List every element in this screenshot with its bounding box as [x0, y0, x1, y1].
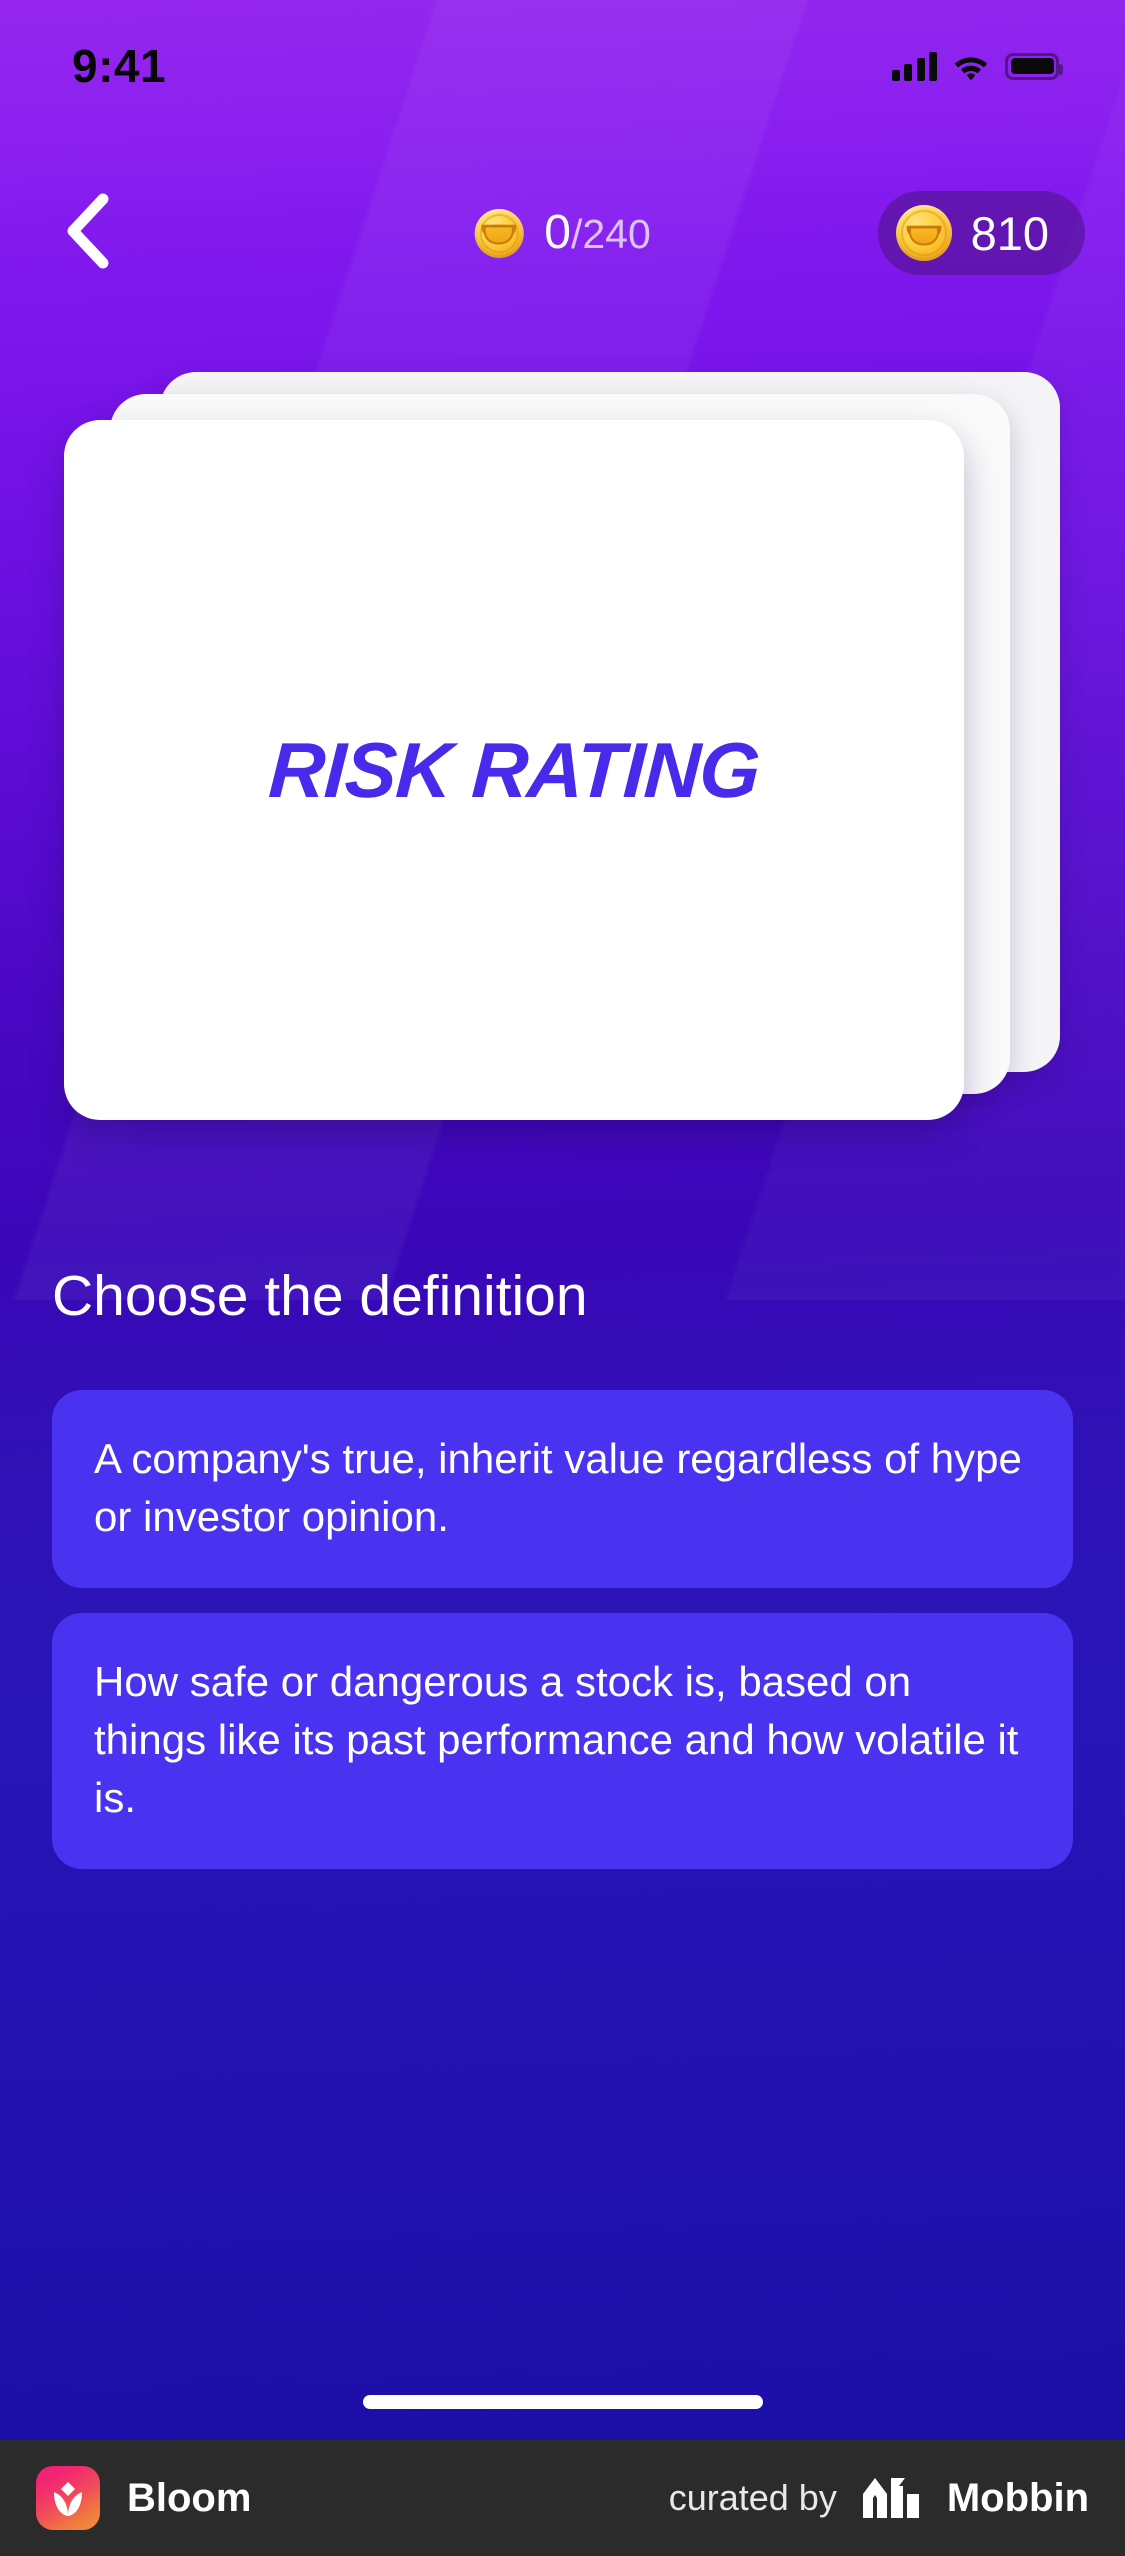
home-indicator[interactable]: [363, 2395, 763, 2409]
coin-balance-value: 810: [971, 210, 1049, 257]
status-bar-indicators: [892, 51, 1060, 81]
curator-attribution: curated by Mobbin: [669, 2474, 1125, 2522]
top-nav-bar: 0/240 810: [0, 178, 1125, 288]
chevron-left-icon: [63, 193, 109, 274]
question-prompt: Choose the definition: [52, 1265, 952, 1329]
coin-balance-button[interactable]: 810: [878, 191, 1085, 275]
curator-name-label: Mobbin: [947, 2478, 1089, 2518]
app-name-label: Bloom: [127, 2478, 251, 2518]
coin-icon: [896, 205, 952, 261]
flashcard-stack: RISK RATING: [0, 372, 1125, 1152]
cellular-signal-icon: [892, 51, 938, 81]
mobbin-logo-icon: [859, 2474, 925, 2522]
status-bar-time: 9:41: [72, 43, 166, 89]
app-attribution: Bloom: [0, 2466, 251, 2530]
progress-total: /240: [571, 211, 651, 257]
battery-full-icon: [1005, 53, 1059, 80]
flashcard-term: RISK RATING: [267, 725, 762, 816]
answer-option-1[interactable]: A company's true, inherit value regardle…: [52, 1390, 1073, 1588]
app-screen: 9:41 0/240: [0, 0, 1125, 2556]
coin-icon: [474, 209, 523, 258]
curated-by-label: curated by: [669, 2480, 837, 2516]
session-progress: 0/240: [474, 209, 651, 258]
answer-options-list: A company's true, inherit value regardle…: [52, 1390, 1073, 1894]
wifi-icon: [952, 51, 990, 81]
progress-count: 0/240: [544, 209, 651, 257]
back-button[interactable]: [40, 187, 132, 279]
answer-option-2[interactable]: How safe or dangerous a stock is, based …: [52, 1613, 1073, 1869]
bloom-app-icon: [36, 2466, 100, 2530]
status-bar: 9:41: [0, 0, 1125, 132]
progress-current: 0: [544, 206, 571, 259]
flashcard-front[interactable]: RISK RATING: [64, 420, 964, 1120]
attribution-bar: Bloom curated by Mobbin: [0, 2440, 1125, 2556]
